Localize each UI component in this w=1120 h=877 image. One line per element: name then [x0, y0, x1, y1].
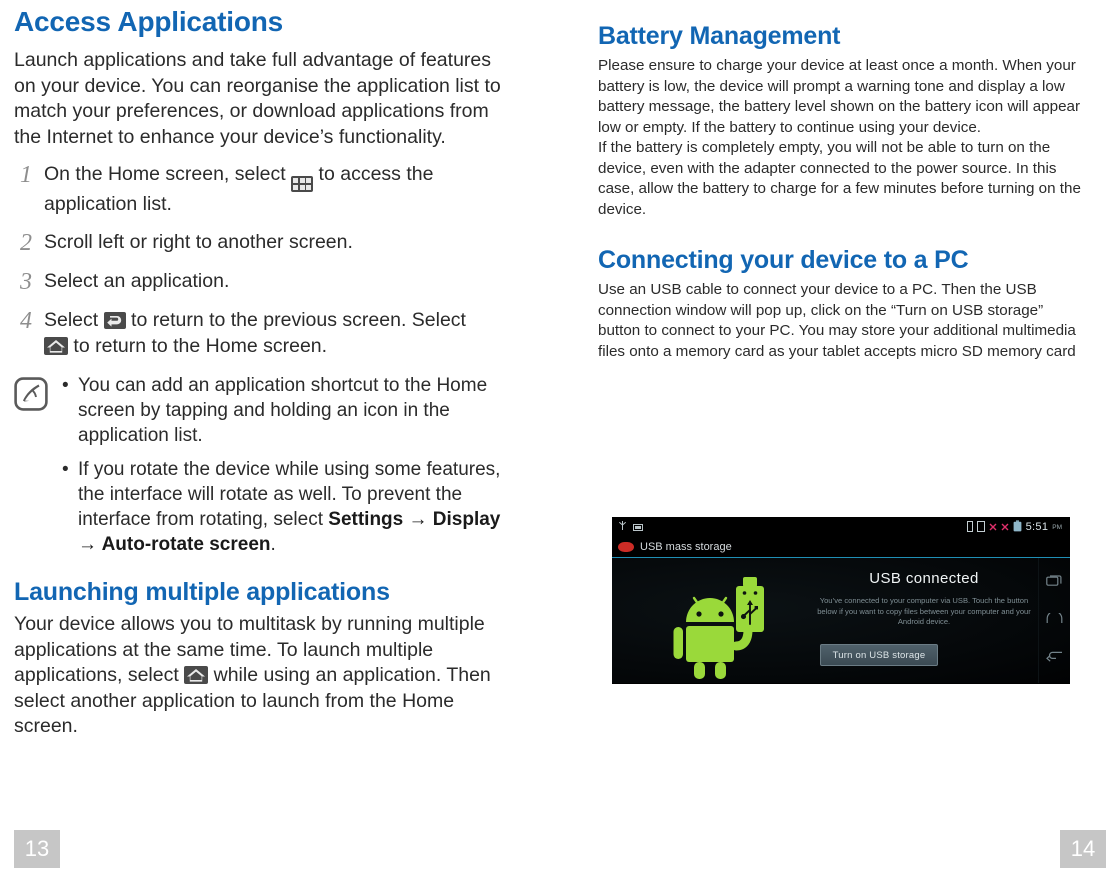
android-navigation-bar — [1038, 558, 1070, 683]
usb-dialog: USB connected You’ve connected to your c… — [612, 558, 1038, 683]
android-content: USB connected You’ve connected to your c… — [612, 558, 1070, 683]
android-screenshot: 5:51 PM USB mass storage — [612, 517, 1070, 684]
note-item-text: If you rotate the device while using som… — [78, 457, 502, 557]
step-number: 3 — [14, 269, 44, 295]
notification-label: USB mass storage — [640, 541, 732, 553]
status-ampm: PM — [1052, 524, 1062, 531]
access-applications-steps: 1 On the Home screen, select to access t… — [14, 162, 502, 359]
launching-multiple-body: Your device allows you to multitask by r… — [14, 612, 502, 740]
battery-small-icon — [967, 521, 973, 534]
battery-paragraph-1: Please ensure to charge your device at l… — [598, 56, 1084, 138]
page-title-battery-management: Battery Management — [598, 22, 1084, 51]
step-text: Scroll left or right to another screen. — [44, 230, 502, 256]
step-item: 3 Select an application. — [14, 269, 502, 295]
step-item: 4 Select to return to the previous scree… — [14, 308, 502, 359]
status-clock: 5:51 — [1026, 521, 1049, 533]
page-title-launching-multiple-applications: Launching multiple applications — [14, 578, 502, 607]
step-text-mid: to return to the previous screen. Select — [131, 309, 466, 331]
home-icon — [184, 666, 208, 684]
step-text: Select to return to the previous screen.… — [44, 308, 502, 359]
android-status-bar: 5:51 PM — [612, 517, 1070, 537]
step-number: 2 — [14, 230, 44, 256]
sim-icon — [977, 521, 985, 534]
signal-x-2-icon — [1001, 521, 1009, 534]
step-number: 4 — [14, 308, 44, 334]
usb-screenshot-figure: 5:51 PM USB mass storage — [612, 517, 1070, 684]
android-notification-row[interactable]: USB mass storage — [612, 537, 1070, 558]
page-number-right: 14 — [1060, 830, 1106, 868]
step-number: 1 — [14, 162, 44, 188]
bullet-glyph: • — [62, 373, 78, 398]
connecting-pc-paragraph: Use an USB cable to connect your device … — [598, 280, 1084, 362]
note-pen-icon — [14, 373, 56, 416]
page-number-left: 13 — [14, 830, 60, 868]
android-robot-usb-icon — [670, 572, 782, 680]
note-text-after: . — [271, 534, 276, 555]
battery-icon — [1013, 520, 1022, 534]
usb-dialog-text: USB connected You’ve connected to your c… — [808, 570, 1040, 628]
home-icon — [44, 337, 68, 355]
status-right-icons: 5:51 PM — [967, 520, 1062, 534]
note-item: • You can add an application shortcut to… — [62, 373, 502, 448]
step-text: Select an application. — [44, 269, 502, 295]
signal-x-icon — [989, 521, 997, 534]
recents-icon[interactable] — [1046, 574, 1063, 592]
bullet-glyph: • — [62, 457, 78, 482]
step-item: 2 Scroll left or right to another screen… — [14, 230, 502, 256]
step-text-before: Select — [44, 309, 98, 331]
usb-storage-icon — [618, 542, 634, 552]
sd-card-icon — [633, 518, 643, 536]
note-item: • If you rotate the device while using s… — [62, 457, 502, 557]
usb-dialog-description: You’ve connected to your computer via US… — [808, 596, 1040, 628]
note-list: • You can add an application shortcut to… — [56, 373, 502, 566]
battery-management-body: Please ensure to charge your device at l… — [598, 56, 1084, 220]
step-text-after: to return to the Home screen. — [73, 335, 327, 357]
note-item-text: You can add an application shortcut to t… — [78, 373, 502, 448]
turn-on-usb-storage-button[interactable]: Turn on USB storage — [820, 644, 938, 666]
step-text: On the Home screen, select to access the… — [44, 162, 502, 217]
note-box: • You can add an application shortcut to… — [14, 373, 502, 566]
step-item: 1 On the Home screen, select to access t… — [14, 162, 502, 217]
battery-paragraph-2: If the battery is completely empty, you … — [598, 138, 1084, 220]
step-text-before: On the Home screen, select — [44, 163, 286, 185]
page-title-connecting-device-to-pc: Connecting your device to a PC — [598, 246, 1084, 275]
status-left-icons — [618, 518, 643, 536]
home-icon[interactable] — [1046, 611, 1063, 629]
gps-icon — [618, 518, 627, 536]
access-applications-intro: Launch applications and take full advant… — [14, 48, 502, 150]
page-right: Battery Management Please ensure to char… — [560, 0, 1120, 877]
apps-grid-icon — [291, 176, 313, 192]
usb-dialog-title: USB connected — [808, 570, 1040, 587]
connecting-pc-body: Use an USB cable to connect your device … — [598, 280, 1084, 362]
page-title-access-applications: Access Applications — [14, 6, 502, 38]
page-left: Access Applications Launch applications … — [0, 0, 560, 877]
manual-spread: Access Applications Launch applications … — [0, 0, 1120, 877]
back-arrow-icon — [104, 312, 126, 329]
back-icon[interactable] — [1046, 649, 1063, 667]
